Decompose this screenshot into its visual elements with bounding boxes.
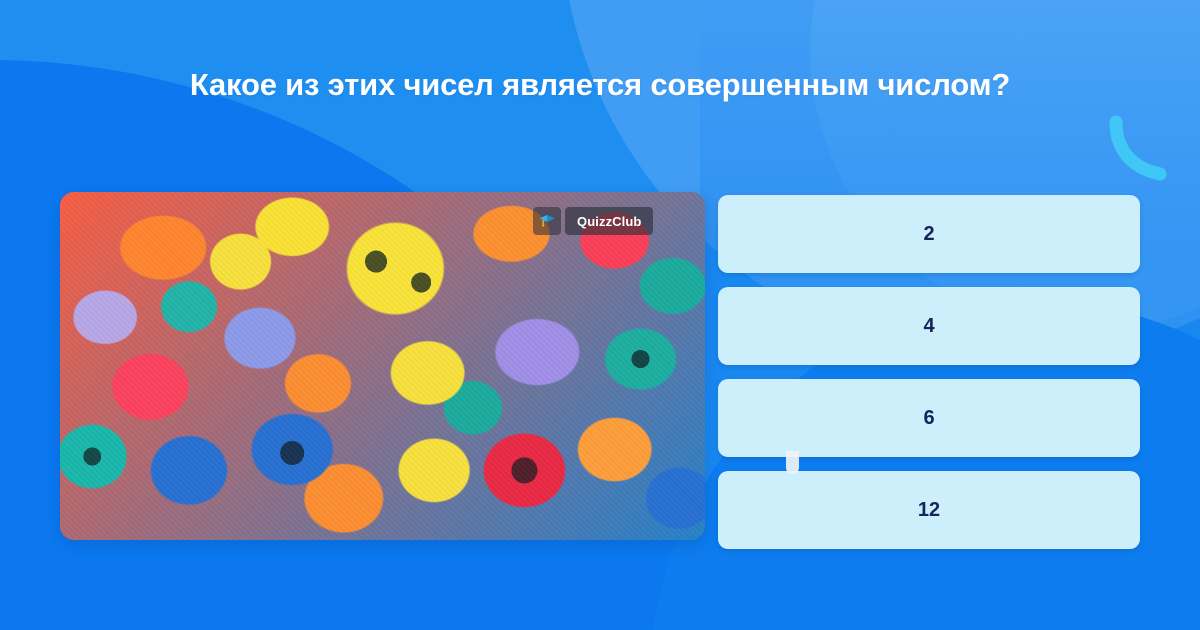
watermark-brand-label: QuizzClub [565, 207, 653, 235]
answer-option-4[interactable]: 12 [718, 471, 1140, 549]
graduation-cap-icon [533, 207, 561, 235]
foam-texture-overlay [60, 192, 705, 540]
question-image [60, 192, 705, 540]
answer-option-2[interactable]: 4 [718, 287, 1140, 365]
quiz-card: Какое из этих чисел является совершенным… [0, 0, 1200, 630]
drip-indicator [786, 451, 799, 474]
question-title: Какое из этих чисел является совершенным… [0, 66, 1200, 103]
answer-option-1[interactable]: 2 [718, 195, 1140, 273]
answer-option-3[interactable]: 6 [718, 379, 1140, 457]
answer-list: 2 4 6 12 [718, 195, 1140, 549]
swoosh-arc-icon [1100, 112, 1176, 188]
watermark: QuizzClub [533, 207, 653, 235]
